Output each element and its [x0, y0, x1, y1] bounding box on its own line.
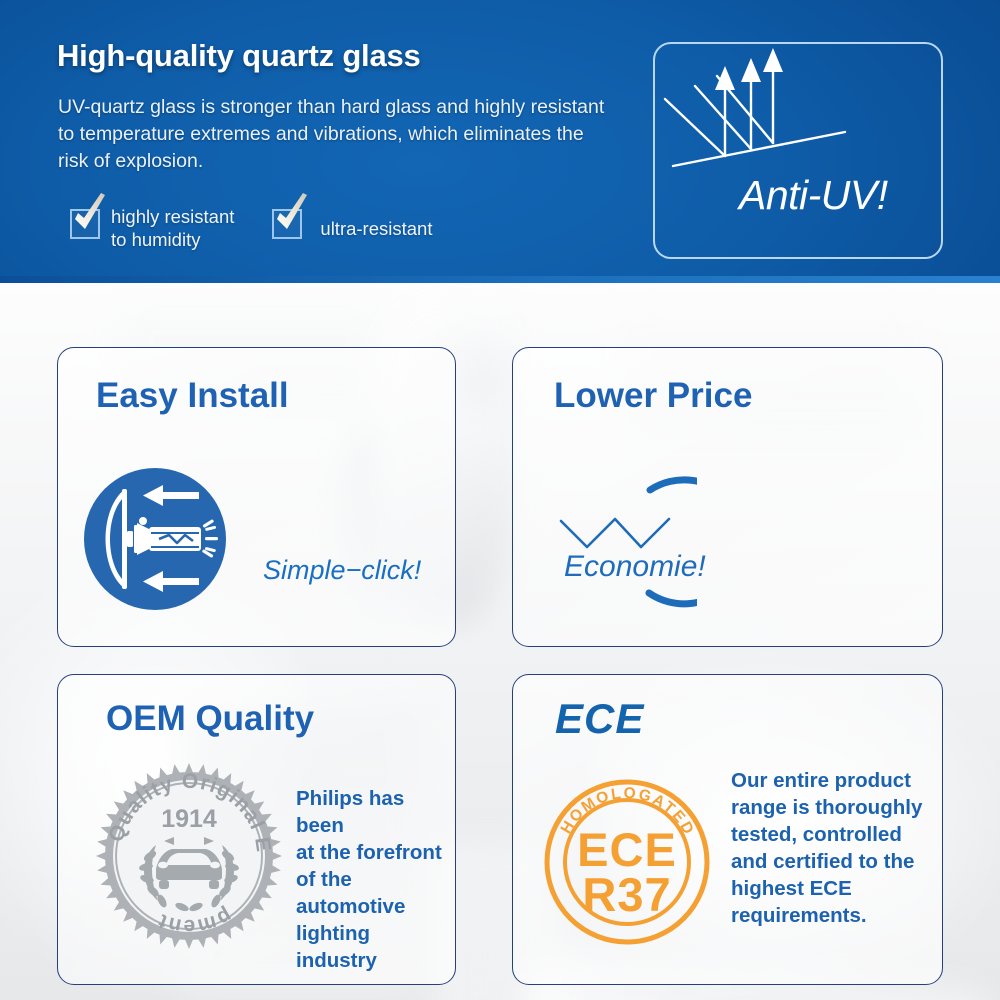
card-tagline-lower-price: Economie!	[564, 550, 706, 584]
checkbox-checked-icon	[70, 209, 100, 239]
svg-text:R37: R37	[582, 868, 671, 921]
card-title-lower-price: Lower Price	[554, 376, 752, 416]
checkmark-glyph-icon	[70, 193, 110, 235]
card-body-ece: Our entire product range is thoroughly t…	[731, 767, 922, 929]
card-title-easy-install: Easy Install	[96, 376, 289, 416]
background-lamp-neck	[455, 283, 513, 403]
anti-uv-label: Anti-UV!	[739, 172, 888, 219]
feature-card-oem-quality[interactable]: OEM Quality	[57, 674, 456, 985]
bulb-click-install-icon	[81, 465, 229, 613]
checkbox-checked-icon	[272, 209, 302, 239]
anti-uv-panel: Anti-UV!	[653, 42, 943, 259]
svg-text:1914: 1914	[161, 805, 217, 833]
feature-card-easy-install[interactable]: Easy Install	[57, 347, 456, 647]
product-feature-infographic: High-quality quartz glass UV-quartz glas…	[0, 0, 1000, 1000]
header-bottom-strip	[0, 276, 1000, 283]
card-body-oem-quality: Philips has been at the forefront of the…	[296, 785, 455, 974]
card-title-oem-quality: OEM Quality	[106, 699, 314, 739]
ece-homologated-badge-icon: HOMOLOGATED ECE R37	[535, 770, 720, 955]
check-label-humidity: highly resistant to humidity	[111, 203, 234, 251]
feature-card-lower-price[interactable]: Lower Price Economie!	[512, 347, 943, 647]
quality-original-equipment-seal-icon: Quality Original Equi pment 1914	[94, 761, 284, 951]
uv-reflection-diagram-icon	[655, 44, 945, 261]
card-tagline-easy-install: Simple−click!	[263, 555, 421, 586]
checkmark-glyph-icon	[272, 193, 312, 235]
header-description: UV-quartz glass is stronger than hard gl…	[58, 94, 618, 175]
page-title: High-quality quartz glass	[57, 38, 421, 74]
economy-arc-zigzag-icon	[537, 461, 697, 621]
card-title-ece: ECE	[555, 695, 644, 743]
check-label-ultra-resistant: ultra-resistant	[320, 203, 432, 240]
check-item-ultra-resistant: ultra-resistant	[272, 203, 432, 240]
header-banner: High-quality quartz glass UV-quartz glas…	[0, 0, 1000, 283]
feature-card-ece[interactable]: ECE HOMOLOGATED ECE R37 Our entire produ…	[512, 674, 943, 985]
header-feature-checks: highly resistant to humidity ultra-resis…	[70, 203, 432, 251]
check-item-humidity: highly resistant to humidity	[70, 203, 234, 251]
